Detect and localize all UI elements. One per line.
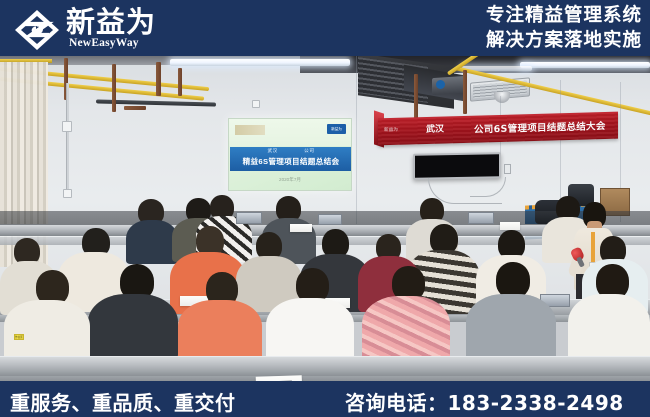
slide-logo-placeholder [235,125,265,135]
banner-title: 公司6S管理项目结题总结大会 [474,118,606,136]
tagline-line-1: 专注精益管理系统 [486,3,642,28]
diamond-swirl-logo-icon [14,9,60,51]
banner-city: 武汉 [426,122,444,136]
slide-title-band: 武汉 公司 精益6S管理项目结题总结会 [230,147,352,171]
pipe-drop-3 [156,62,161,96]
promo-banner-image: 新益为 NewEasyWay 专注精益管理系统 解决方案落地实施 [0,0,650,417]
laptop-1 [236,212,262,224]
header-bar: 新益为 NewEasyWay 专注精益管理系统 解决方案落地实施 [0,0,650,56]
pipe-drop-2 [112,64,116,112]
wall-junction-box-1 [62,121,72,132]
paper-back-2 [500,222,520,230]
scene-photo: 新益为 武汉 公司 精益6S管理项目结题总结会 2020年7月 新益为 武汉 公… [0,56,650,381]
footer-contact: 咨询电话：183-2338-2498 [345,387,624,416]
wall-junction-box-2 [63,189,72,198]
projector-lens-icon [436,80,445,89]
pipe-drop-6 [463,70,467,114]
front-workbench-top [0,356,650,378]
wall-socket [504,164,511,174]
laptop-2 [318,214,342,225]
wall-junction-box-3 [252,100,260,108]
brand-logo[interactable]: 新益为 NewEasyWay [14,4,334,54]
slide-subtitle: 武汉 公司 [230,148,352,154]
pipe-drop-4 [178,68,182,96]
pipe-drop-5 [414,74,418,120]
ceiling-light-tube-2 [520,62,650,68]
footer-slogan: 重服务、重品质、重交付 [10,387,236,416]
wall-conduit [66,83,69,191]
wall-panel-seam-1 [356,56,357,236]
slide-badge: 新益为 [327,124,346,134]
laptop-3 [468,212,494,224]
logo-english-name: NewEasyWay [69,37,139,49]
presenter-lanyard [591,232,595,262]
paper-back-1 [290,224,312,232]
footer-bar: 重服务、重品质、重交付 咨询电话：183-2338-2498 [0,381,650,417]
projection-screen: 新益为 武汉 公司 精益6S管理项目结题总结会 2020年7月 [228,118,352,191]
contact-label: 咨询电话： [345,391,448,415]
logo-chinese-name: 新益为 [66,6,156,38]
bench-label-tag-4: 作业区 [14,334,24,340]
pipe-elbow-1 [124,106,146,110]
slide-title: 精益6S管理项目结题总结会 [230,156,352,167]
slide-date: 2020年7月 [229,177,351,183]
wall-mounted-tv [413,152,501,180]
ceiling-light-tube-1 [170,59,350,66]
contact-phone[interactable]: 183-2338-2498 [448,391,624,415]
tagline-line-2: 解决方案落地实施 [486,28,642,53]
header-tagline: 专注精益管理系统 解决方案落地实施 [486,3,642,53]
banner-logo-text: 新益为 [384,127,398,133]
